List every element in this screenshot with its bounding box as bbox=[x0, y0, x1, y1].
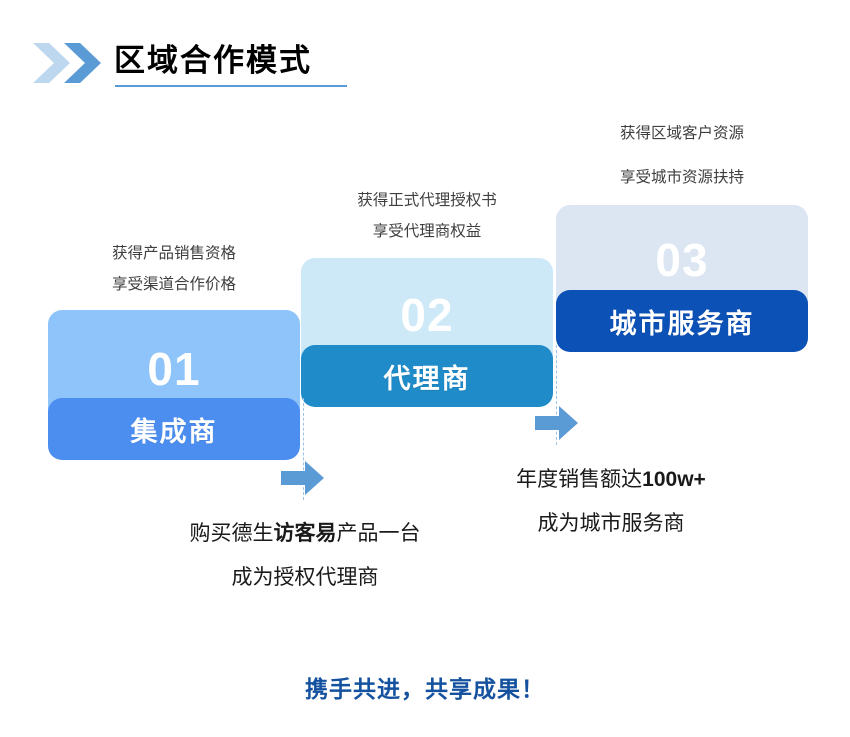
step-01-title: 集成商 bbox=[48, 398, 300, 460]
step-01-number: 01 bbox=[48, 344, 300, 394]
connector-1-note-suffix: 产品一台 bbox=[337, 522, 421, 545]
connector-1-note-strong: 访客易 bbox=[274, 522, 337, 545]
double-chevron-icon bbox=[33, 42, 105, 84]
step-01-caption-line1: 获得产品销售资格 bbox=[48, 238, 300, 269]
title-underline bbox=[115, 85, 347, 87]
step-01-caption-line2: 享受渠道合作价格 bbox=[48, 269, 300, 300]
connector-2-arrow-icon bbox=[535, 405, 579, 441]
connector-2-note-strong: 100w+ bbox=[642, 468, 706, 491]
step-02-title: 代理商 bbox=[301, 345, 553, 407]
step-03-caption-line2: 享受城市资源扶持 bbox=[556, 162, 808, 193]
connector-2-note-line2: 成为城市服务商 bbox=[436, 502, 786, 546]
page-title: 区域合作模式 bbox=[114, 40, 312, 82]
step-02-number: 02 bbox=[301, 290, 553, 340]
step-03-card[interactable]: 03 城市服务商 bbox=[556, 205, 808, 344]
step-03-title: 城市服务商 bbox=[556, 290, 808, 352]
step-02-caption-line2: 享受代理商权益 bbox=[301, 216, 553, 247]
connector-2-note-line1: 年度销售额达100w+ bbox=[436, 458, 786, 502]
slide-canvas: 区域合作模式 获得产品销售资格 享受渠道合作价格 01 集成商 获得正式代理授权… bbox=[0, 0, 850, 737]
step-01-card[interactable]: 01 集成商 bbox=[48, 310, 300, 450]
step-02-card[interactable]: 02 代理商 bbox=[301, 258, 553, 397]
connector-1-note-line2: 成为授权代理商 bbox=[130, 556, 480, 600]
step-02-caption-line1: 获得正式代理授权书 bbox=[301, 185, 553, 216]
connector-1-note-line1: 购买德生访客易产品一台 bbox=[130, 512, 480, 556]
step-03-caption-line1: 获得区域客户资源 bbox=[556, 118, 808, 149]
connector-2-note-prefix: 年度销售额达 bbox=[516, 468, 642, 491]
step-03-number: 03 bbox=[556, 235, 808, 285]
section-header: 区域合作模式 bbox=[0, 0, 850, 110]
connector-1-note-prefix: 购买德生 bbox=[190, 522, 274, 545]
connector-1-arrow-icon bbox=[281, 460, 325, 496]
footer-slogan: 携手共进，共享成果！ bbox=[0, 670, 850, 704]
